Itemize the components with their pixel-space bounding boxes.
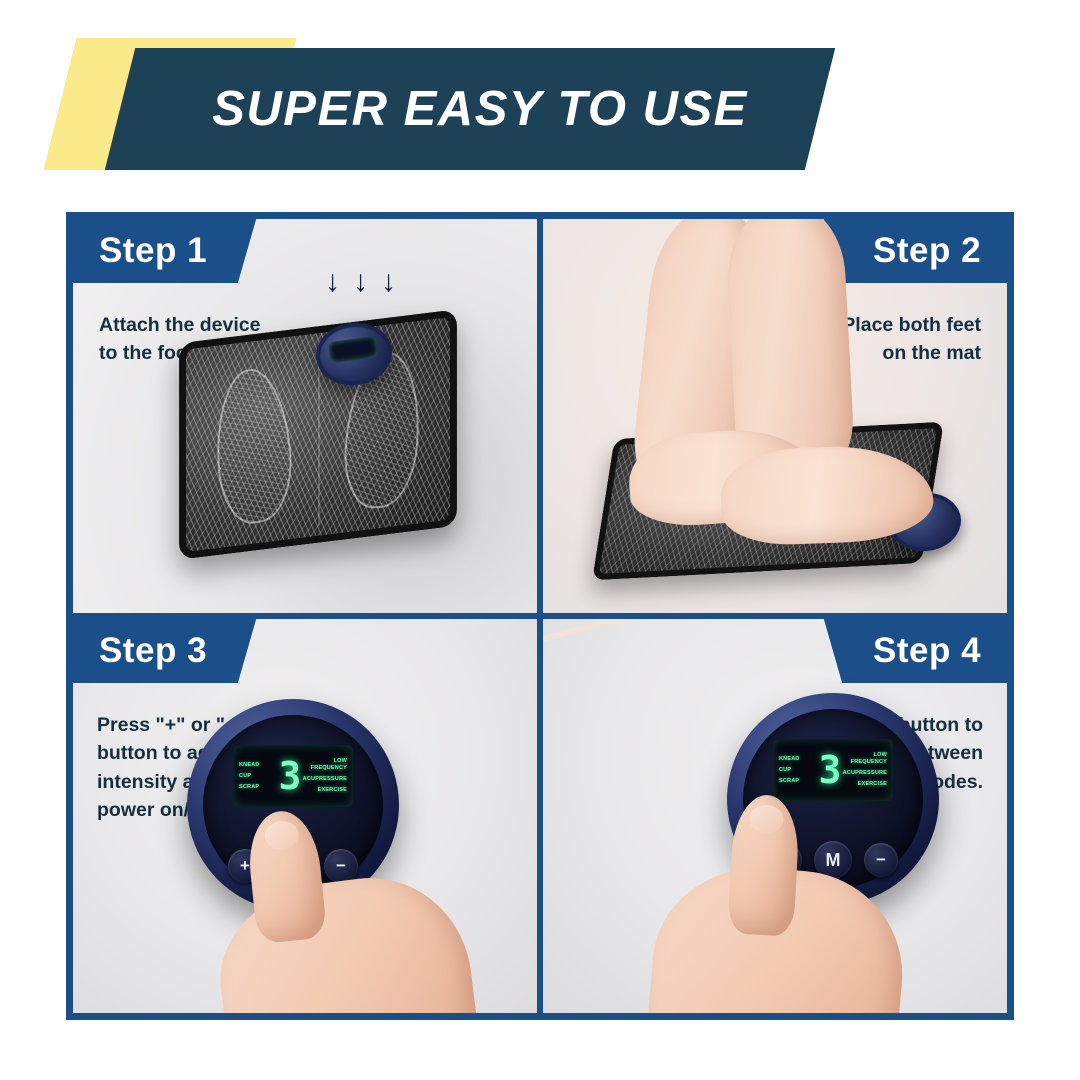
display-label-knead: KNEAD [239, 762, 273, 768]
device-display: KNEAD CUP SCRAP 3 LOW FREQUENCY ACUPRESS… [233, 745, 353, 807]
step-2-panel: Step 2 Place both feet on the mat [540, 216, 1010, 616]
display-label-cup: CUP [779, 767, 813, 773]
minus-button[interactable]: − [324, 849, 358, 883]
footprint-left-graphic [212, 362, 296, 530]
step-2-tag: Step 2 [824, 219, 1010, 283]
minus-button[interactable]: − [864, 843, 898, 877]
display-label-acupressure: ACUPRESSURE [303, 776, 347, 782]
display-label-exercise: EXERCISE [858, 781, 887, 787]
display-left-labels: KNEAD CUP SCRAP [779, 756, 813, 785]
step-3-tag-label: Step 3 [99, 631, 207, 671]
step-3-tag: Step 3 [70, 619, 256, 683]
down-arrow-icon-group: ↓ ↓ ↓ [325, 267, 396, 297]
display-label-exercise: EXERCISE [318, 787, 347, 793]
display-right-labels: LOW FREQUENCY ACUPRESSURE EXERCISE [307, 758, 347, 793]
page-title: SUPER EASY TO USE [150, 48, 810, 170]
step-1-tag: Step 1 [70, 219, 256, 283]
display-label-cup: CUP [239, 773, 273, 779]
display-right-labels: LOW FREQUENCY ACUPRESSURE EXERCISE [847, 752, 887, 787]
display-label-scrap: SCRAP [779, 778, 813, 784]
step-2-tag-label: Step 2 [873, 231, 981, 271]
step-4-tag-label: Step 4 [873, 631, 981, 671]
device-display: KNEAD CUP SCRAP 3 LOW FREQUENCY ACUPRESS… [773, 739, 893, 801]
step-1-panel: Step 1 Attach the device to the foot mat… [70, 216, 540, 616]
display-label-scrap: SCRAP [239, 784, 273, 790]
down-arrow-icon: ↓ [381, 267, 396, 297]
display-label-acupressure: ACUPRESSURE [843, 770, 887, 776]
display-label-knead: KNEAD [779, 756, 813, 762]
down-arrow-icon: ↓ [325, 267, 340, 297]
step-4-panel: Step 4 Press "M" button to switch betwee… [540, 616, 1010, 1016]
step-1-tag-label: Step 1 [99, 231, 207, 271]
down-arrow-icon: ↓ [353, 267, 368, 297]
step-2-caption: Place both feet on the mat [842, 311, 981, 368]
display-label-low-frequency: LOW FREQUENCY [307, 758, 347, 771]
display-left-labels: KNEAD CUP SCRAP [239, 762, 273, 791]
header-banner: SUPER EASY TO USE [0, 38, 1080, 178]
fingernail-graphic [263, 820, 300, 851]
step-3-panel: Step 3 Press "+" or "-" button to adjust… [70, 616, 540, 1016]
fingernail-graphic [749, 804, 784, 834]
steps-grid: Step 1 Attach the device to the foot mat… [66, 212, 1014, 1020]
step-4-tag: Step 4 [824, 619, 1010, 683]
display-label-low-frequency: LOW FREQUENCY [847, 752, 887, 765]
